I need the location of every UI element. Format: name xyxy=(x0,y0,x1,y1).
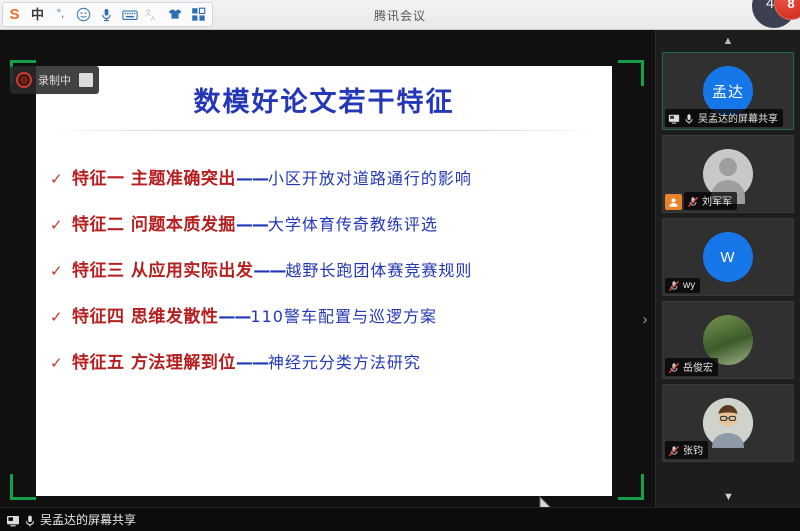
record-dot-icon xyxy=(16,72,32,88)
notification-badge-group[interactable]: 4 8 xyxy=(752,0,800,30)
frame-corner-bottom-right xyxy=(618,474,644,500)
bullet-example: 大学体育传奇教练评选 xyxy=(268,211,438,235)
participant-tile-3[interactable]: 岳俊宏 xyxy=(662,301,794,379)
avatar: W xyxy=(703,232,753,282)
participant-tile-4[interactable]: 张钧 xyxy=(662,384,794,462)
participant-name: 岳俊宏 xyxy=(683,359,713,374)
bottom-status-bar: 吴孟达的屏幕共享 xyxy=(0,507,800,531)
screen-share-icon xyxy=(6,514,18,526)
bullet-example: 越野长跑团体赛竞赛规则 xyxy=(285,257,472,281)
voice-input-icon[interactable] xyxy=(96,4,117,25)
ime-toolbar[interactable]: S 中 °, 文A xyxy=(2,2,213,27)
bullet-dash: —— xyxy=(218,307,250,327)
participant-name: wy xyxy=(683,280,695,291)
participant-name-chip: 张钧 xyxy=(665,441,708,459)
avatar xyxy=(703,398,753,448)
bullet-example: 小区开放对道路通行的影响 xyxy=(268,165,472,189)
slide-bullet-list: ✓ 特征一 主题准确突出 —— 小区开放对道路通行的影响 ✓ 特征二 问题本质发… xyxy=(50,164,602,394)
bullet-dash: —— xyxy=(236,169,268,189)
host-badge-icon xyxy=(665,194,682,210)
translate-icon[interactable]: 文A xyxy=(142,4,163,25)
emoji-icon[interactable] xyxy=(73,4,94,25)
bullet-example: 神经元分类方法研究 xyxy=(268,349,421,373)
bullet-dash: —— xyxy=(236,353,268,373)
screen-share-icon xyxy=(668,112,680,124)
check-icon: ✓ xyxy=(50,216,72,234)
check-icon: ✓ xyxy=(50,262,72,280)
microphone-muted-icon xyxy=(668,361,680,373)
soft-keyboard-icon[interactable] xyxy=(119,4,140,25)
bullet-heading: 特征二 问题本质发掘 xyxy=(72,210,236,235)
participant-panel: ▲ 孟达 吴孟达的屏幕共享 xyxy=(655,30,800,507)
participant-tile-0[interactable]: 孟达 吴孟达的屏幕共享 xyxy=(662,52,794,130)
participant-name-chip: 岳俊宏 xyxy=(665,358,718,376)
participant-name-chip: wy xyxy=(665,278,700,293)
status-bar-label: 吴孟达的屏幕共享 xyxy=(40,511,136,528)
slide-bullet-item: ✓ 特征五 方法理解到位 —— 神经元分类方法研究 xyxy=(50,348,602,394)
bullet-heading: 特征五 方法理解到位 xyxy=(72,348,236,373)
slide-bullet-item: ✓ 特征二 问题本质发掘 —— 大学体育传奇教练评选 xyxy=(50,210,602,256)
scroll-down-arrow-icon[interactable]: ▼ xyxy=(656,491,800,503)
bullet-dash: —— xyxy=(253,261,285,281)
recording-indicator[interactable]: 录制中 xyxy=(10,66,99,94)
microphone-icon xyxy=(683,112,695,124)
recording-label: 录制中 xyxy=(38,72,71,88)
bullet-heading: 特征三 从应用实际出发 xyxy=(72,256,253,281)
chinese-mode-icon[interactable]: 中 xyxy=(27,4,48,25)
toolbox-icon[interactable] xyxy=(188,4,209,25)
slide-bullet-item: ✓ 特征三 从应用实际出发 —— 越野长跑团体赛竞赛规则 xyxy=(50,256,602,302)
participant-name-chip: 吴孟达的屏幕共享 xyxy=(665,109,783,127)
bullet-example: 110警车配置与巡逻方案 xyxy=(250,303,437,327)
svg-text:A: A xyxy=(151,15,156,21)
presentation-slide: 数模好论文若干特征 ✓ 特征一 主题准确突出 —— 小区开放对道路通行的影响 ✓… xyxy=(36,66,612,496)
check-icon: ✓ xyxy=(50,308,72,326)
microphone-muted-icon xyxy=(668,279,680,291)
participant-tile-2[interactable]: W wy xyxy=(662,218,794,296)
slide-title: 数模好论文若干特征 xyxy=(36,80,612,119)
tencent-meeting-window: 腾讯会议 S 中 °, 文A 4 xyxy=(0,0,800,531)
participant-name-chip: 刘军军 xyxy=(684,192,737,210)
slide-bullet-item: ✓ 特征四 思维发散性 —— 110警车配置与巡逻方案 xyxy=(50,302,602,348)
bullet-heading: 特征四 思维发散性 xyxy=(72,302,218,327)
collapse-panel-chevron-icon[interactable]: › xyxy=(638,306,652,332)
frame-corner-top-right xyxy=(618,60,644,86)
participant-name: 张钧 xyxy=(683,442,703,457)
sogou-logo-icon[interactable]: S xyxy=(4,4,25,25)
os-titlebar: 腾讯会议 S 中 °, 文A 4 xyxy=(0,0,800,30)
participant-name: 吴孟达的屏幕共享 xyxy=(698,110,778,125)
check-icon: ✓ xyxy=(50,170,72,188)
slide-title-divider xyxy=(54,130,594,131)
participant-name: 刘军军 xyxy=(702,193,732,208)
slide-bullet-item: ✓ 特征一 主题准确突出 —— 小区开放对道路通行的影响 xyxy=(50,164,602,210)
bullet-dash: —— xyxy=(236,215,268,235)
participant-tile-1[interactable]: 刘军军 xyxy=(662,135,794,213)
microphone-muted-icon xyxy=(668,444,680,456)
microphone-icon xyxy=(23,514,35,526)
skin-shirt-icon[interactable] xyxy=(165,4,186,25)
frame-corner-bottom-left xyxy=(10,474,36,500)
bullet-heading: 特征一 主题准确突出 xyxy=(72,164,236,189)
scroll-up-arrow-icon[interactable]: ▲ xyxy=(656,30,800,52)
shared-screen-stage: 数模好论文若干特征 ✓ 特征一 主题准确突出 —— 小区开放对道路通行的影响 ✓… xyxy=(0,30,655,507)
stop-recording-button[interactable] xyxy=(79,73,93,87)
microphone-muted-icon xyxy=(687,195,699,207)
punctuation-mode-icon[interactable]: °, xyxy=(50,4,71,25)
check-icon: ✓ xyxy=(50,354,72,372)
